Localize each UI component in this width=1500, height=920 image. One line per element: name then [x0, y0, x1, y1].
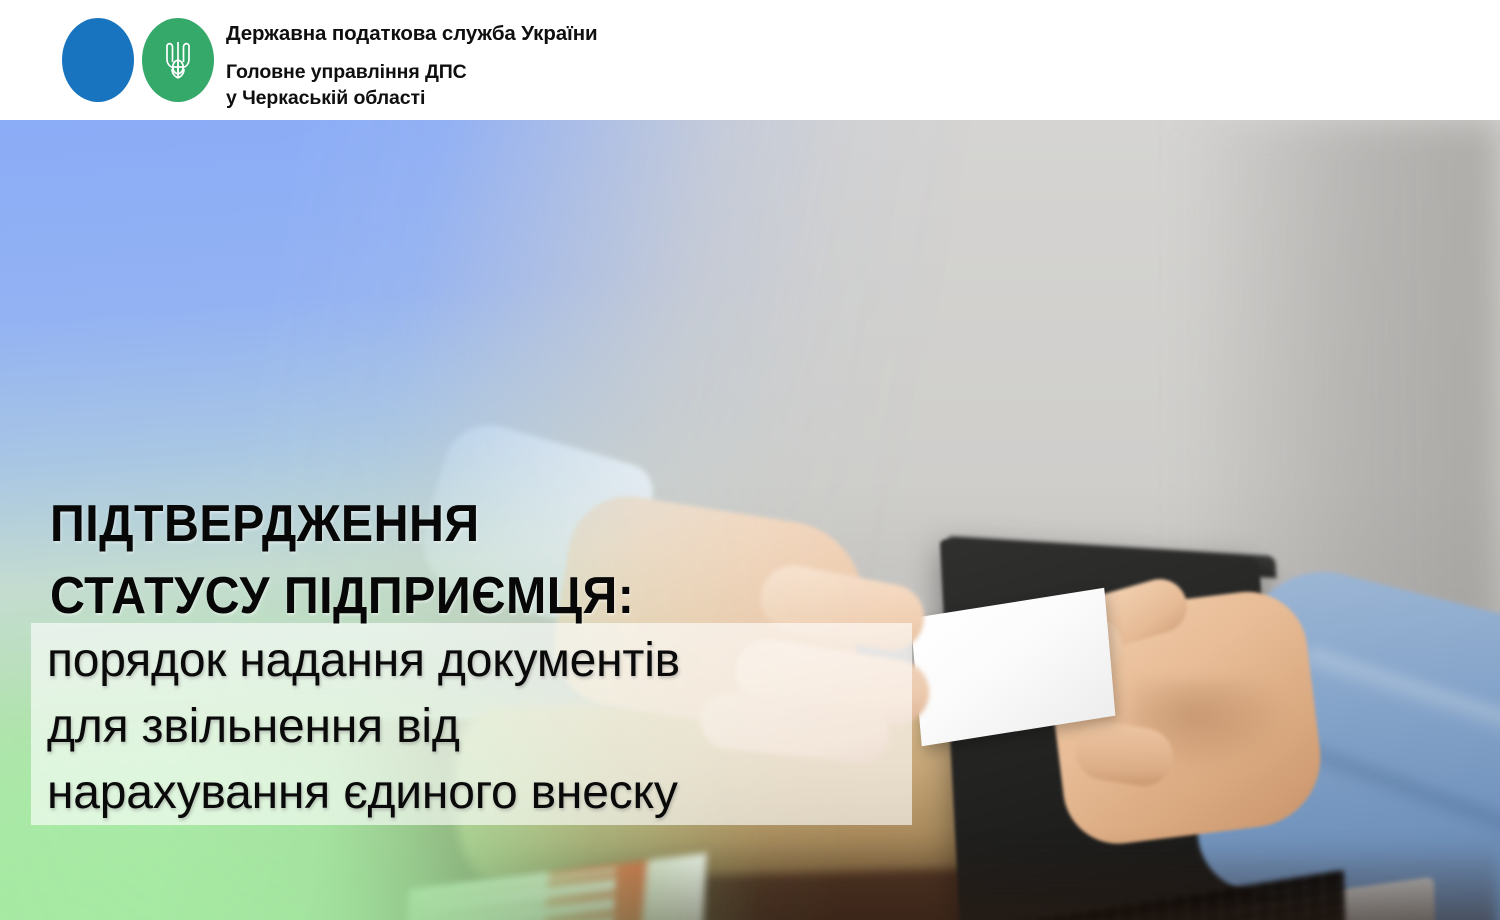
subtitle-line-3: нарахування єдиного внеску: [47, 760, 947, 826]
logo-green-circle-icon: [142, 18, 214, 102]
ukraine-trident-icon: [161, 37, 195, 83]
headline-line-2: СТАТУСУ ПІДПРИЄМЦЯ:: [50, 560, 887, 632]
org-name-block: Державна податкова служба України Головн…: [226, 24, 926, 112]
headline-line-1: ПІДТВЕРДЖЕННЯ: [50, 488, 887, 560]
subtitle-line-1: порядок надання документів: [47, 628, 947, 694]
banner-subtitle: порядок надання документів для звільненн…: [47, 628, 947, 826]
org-title-department: Головне управління ДПС: [226, 59, 926, 86]
subtitle-line-2: для звільнення від: [47, 694, 947, 760]
dps-logo[interactable]: [62, 18, 214, 102]
logo-blue-circle-icon: [62, 18, 134, 102]
org-title-region: у Черкаській області: [226, 85, 926, 112]
page-header: Державна податкова служба України Головн…: [0, 0, 1500, 120]
org-title-national: Державна податкова служба України: [226, 24, 926, 45]
banner-stage: ПІДТВЕРДЖЕННЯ СТАТУСУ ПІДПРИЄМЦЯ: порядо…: [0, 120, 1500, 920]
banner-headline: ПІДТВЕРДЖЕННЯ СТАТУСУ ПІДПРИЄМЦЯ:: [50, 488, 950, 632]
poster-banner: Державна податкова служба України Головн…: [0, 0, 1500, 920]
